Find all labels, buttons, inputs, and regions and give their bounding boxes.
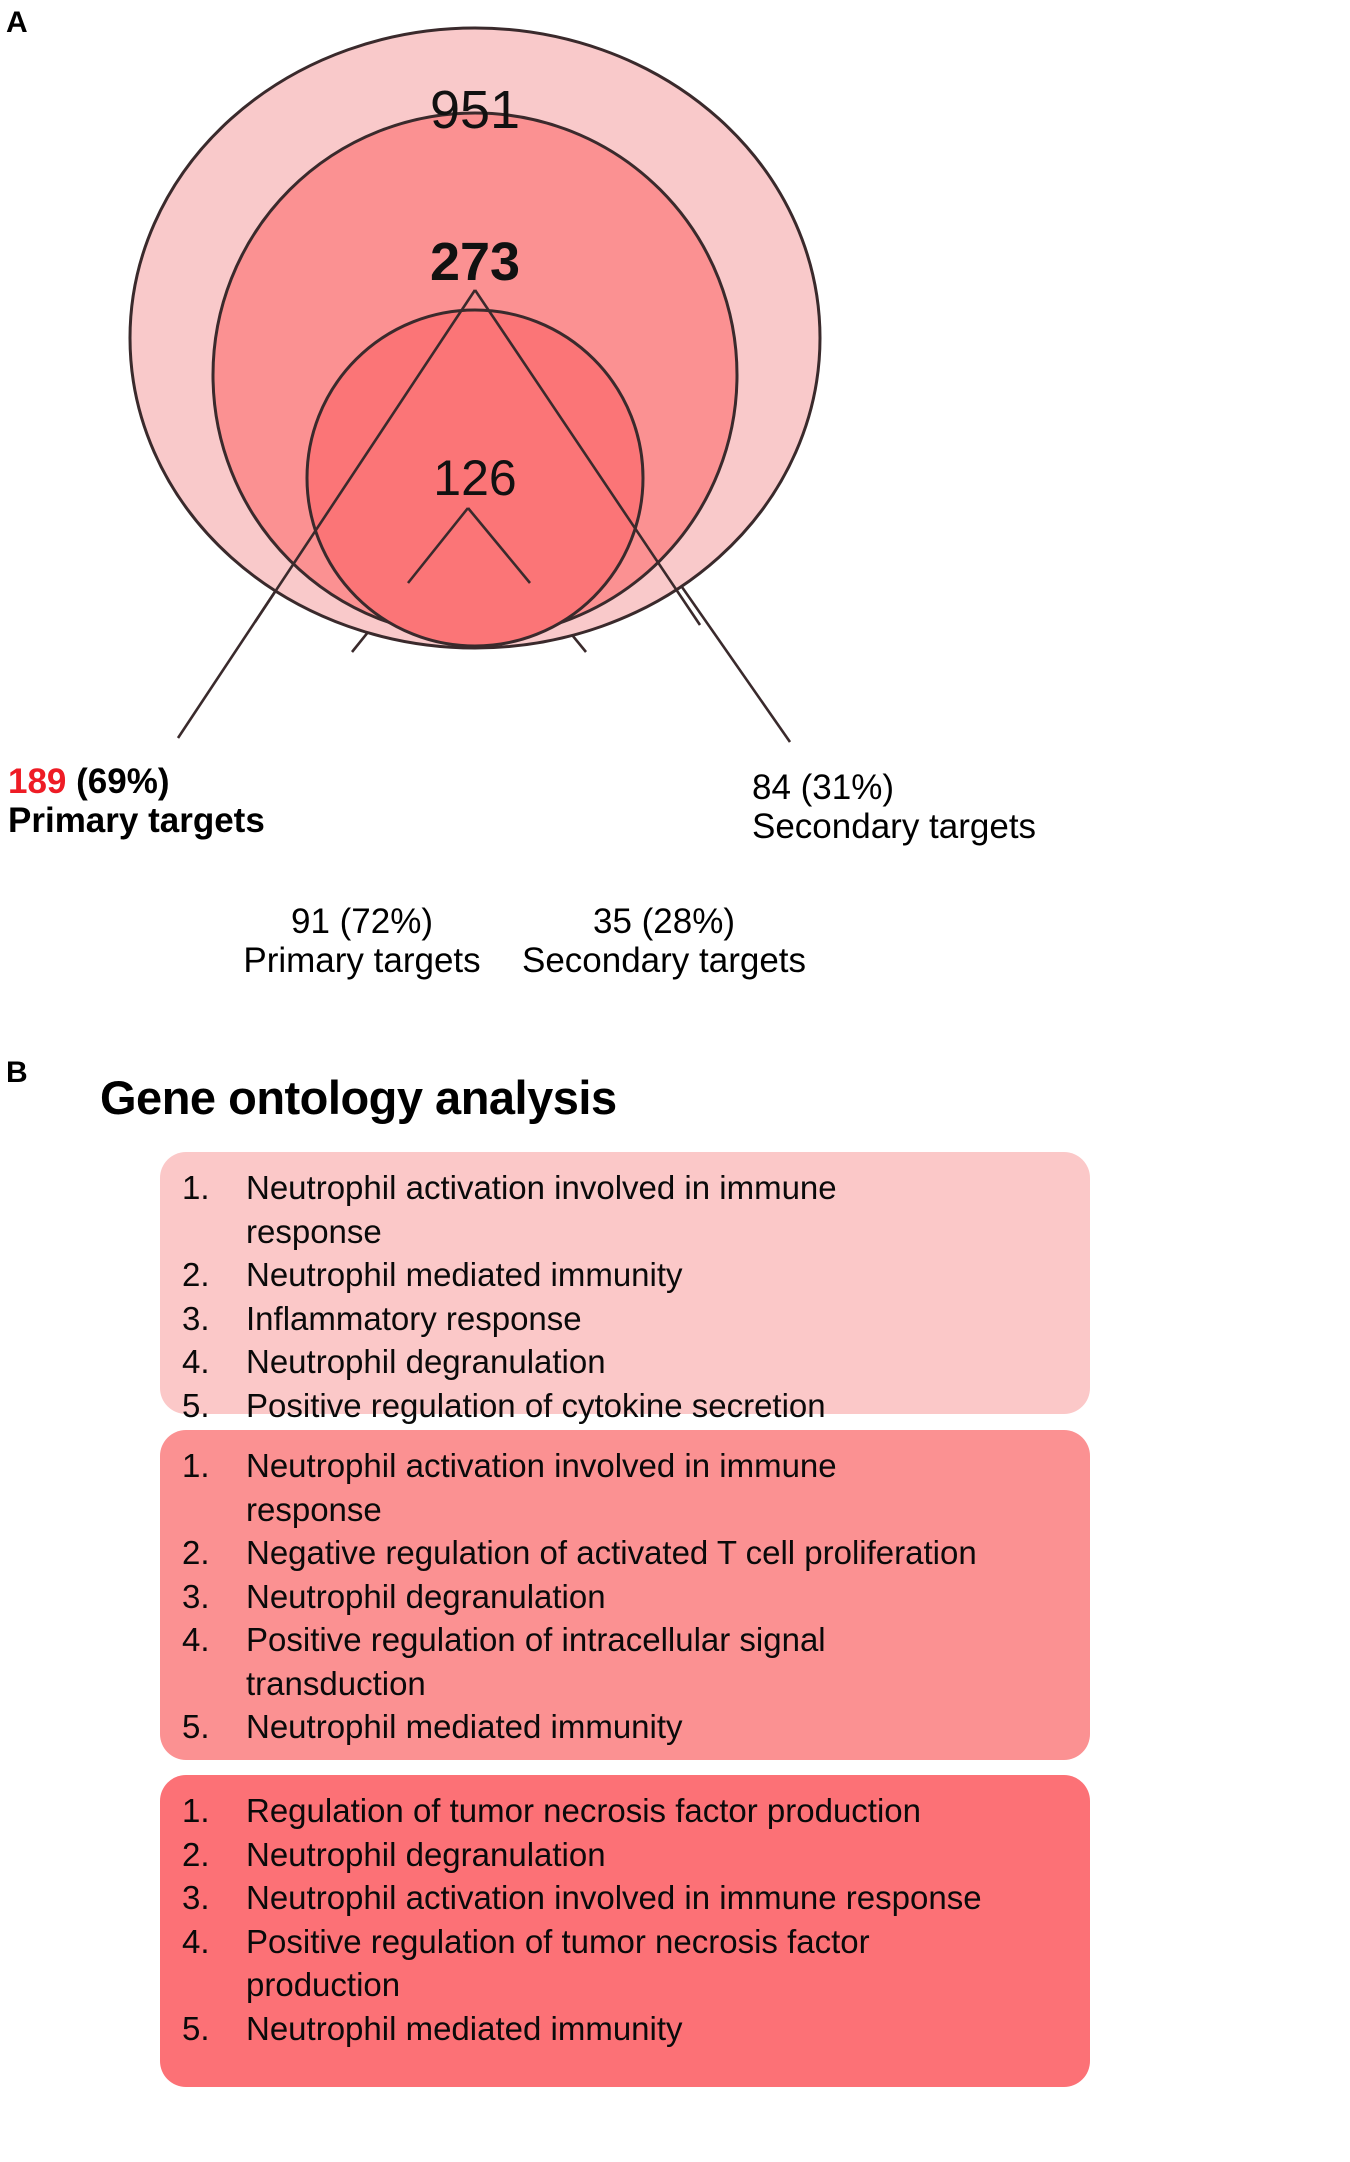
go-item-index: 2. <box>178 1833 246 1877</box>
go-item-text: Neutrophil activation involved in immune… <box>246 1876 1068 1920</box>
go-list-item: 3.Neutrophil degranulation <box>178 1575 1068 1619</box>
panel-letter-b: B <box>6 1058 28 1088</box>
go-list-item: 4.Neutrophil degranulation <box>178 1340 1068 1384</box>
go-item-text: Neutrophil mediated immunity <box>246 1705 1068 1749</box>
go-list-item: 2.Negative regulation of activated T cel… <box>178 1531 1068 1575</box>
venn-diagram: 951 273 126 <box>0 0 1350 1030</box>
go-list-item: 3.Inflammatory response <box>178 1297 1068 1341</box>
go-item-index: 2. <box>178 1531 246 1575</box>
go-list-item: 5.Positive regulation of cytokine secret… <box>178 1384 1068 1428</box>
callout-primary-outer-percent: (69%) <box>76 762 169 801</box>
go-list-item: 4.Positive regulation of intracellular s… <box>178 1618 1068 1705</box>
go-item-text: Positive regulation of cytokine secretio… <box>246 1384 1068 1428</box>
go-item-index: 5. <box>178 1705 246 1749</box>
callout-primary-outer-value: 189 <box>8 762 66 801</box>
go-item-index: 3. <box>178 1297 246 1341</box>
venn-label-inner: 126 <box>433 450 516 506</box>
venn-label-middle: 273 <box>430 232 520 292</box>
callout-primary-inner: 91 (72%) Primary targets <box>222 902 502 980</box>
go-list-item: 5.Neutrophil mediated immunity <box>178 1705 1068 1749</box>
gene-ontology-title: Gene ontology analysis <box>100 1070 617 1125</box>
go-list-item: 1.Neutrophil activation involved in immu… <box>178 1444 1068 1531</box>
callout-primary-inner-name: Primary targets <box>222 941 502 980</box>
go-item-text: Neutrophil degranulation <box>246 1340 1068 1384</box>
go-list-item: 4.Positive regulation of tumor necrosis … <box>178 1920 1068 2007</box>
go-item-text: Neutrophil mediated immunity <box>246 1253 1068 1297</box>
callout-primary-outer-number: 189 (69%) <box>8 762 265 801</box>
callout-secondary-inner-name: Secondary targets <box>504 941 824 980</box>
go-item-index: 4. <box>178 1340 246 1384</box>
go-item-text: Regulation of tumor necrosis factor prod… <box>246 1789 1068 1833</box>
go-item-text: Negative regulation of activated T cell … <box>246 1531 1068 1575</box>
callout-secondary-outer: 84 (31%) Secondary targets <box>752 768 1036 846</box>
callout-primary-outer-name: Primary targets <box>8 801 265 840</box>
go-item-text: Positive regulation of tumor necrosis fa… <box>246 1920 1006 2007</box>
go-item-index: 3. <box>178 1575 246 1619</box>
go-list-item: 1.Regulation of tumor necrosis factor pr… <box>178 1789 1068 1833</box>
venn-label-outer: 951 <box>430 80 520 140</box>
go-list-item: 3.Neutrophil activation involved in immu… <box>178 1876 1068 1920</box>
go-item-text: Neutrophil activation involved in immune… <box>246 1444 866 1531</box>
go-box-inner-set: 1.Regulation of tumor necrosis factor pr… <box>160 1775 1090 2087</box>
panel-a-venn: A 951 273 126 189 (69%) Primary <box>0 0 1350 1030</box>
go-list-item: 5.Neutrophil mediated immunity <box>178 2007 1068 2051</box>
callout-primary-inner-number: 91 (72%) <box>222 902 502 941</box>
go-list-middle-set: 1.Neutrophil activation involved in immu… <box>178 1444 1068 1749</box>
go-item-text: Neutrophil degranulation <box>246 1575 1068 1619</box>
go-item-index: 2. <box>178 1253 246 1297</box>
callout-secondary-inner: 35 (28%) Secondary targets <box>504 902 824 980</box>
callout-secondary-outer-number: 84 (31%) <box>752 768 1036 807</box>
go-list-outer-set: 1.Neutrophil activation involved in immu… <box>178 1166 1068 1427</box>
callout-secondary-inner-number: 35 (28%) <box>504 902 824 941</box>
go-item-index: 4. <box>178 1920 246 1964</box>
go-box-outer-set: 1.Neutrophil activation involved in immu… <box>160 1152 1090 1414</box>
go-box-middle-set: 1.Neutrophil activation involved in immu… <box>160 1430 1090 1760</box>
go-list-item: 1.Neutrophil activation involved in immu… <box>178 1166 1068 1253</box>
go-item-index: 1. <box>178 1166 246 1210</box>
go-list-item: 2.Neutrophil mediated immunity <box>178 1253 1068 1297</box>
go-item-index: 3. <box>178 1876 246 1920</box>
go-item-text: Neutrophil degranulation <box>246 1833 1068 1877</box>
go-item-index: 5. <box>178 1384 246 1428</box>
go-item-text: Positive regulation of intracellular sig… <box>246 1618 1006 1705</box>
go-item-index: 1. <box>178 1444 246 1488</box>
go-item-index: 5. <box>178 2007 246 2051</box>
callout-secondary-outer-name: Secondary targets <box>752 807 1036 846</box>
go-item-index: 1. <box>178 1789 246 1833</box>
go-list-item: 2.Neutrophil degranulation <box>178 1833 1068 1877</box>
go-list-inner-set: 1.Regulation of tumor necrosis factor pr… <box>178 1789 1068 2050</box>
go-item-text: Inflammatory response <box>246 1297 1068 1341</box>
go-item-text: Neutrophil activation involved in immune… <box>246 1166 866 1253</box>
go-item-text: Neutrophil mediated immunity <box>246 2007 1068 2051</box>
go-item-index: 4. <box>178 1618 246 1662</box>
callout-primary-outer: 189 (69%) Primary targets <box>8 762 265 840</box>
